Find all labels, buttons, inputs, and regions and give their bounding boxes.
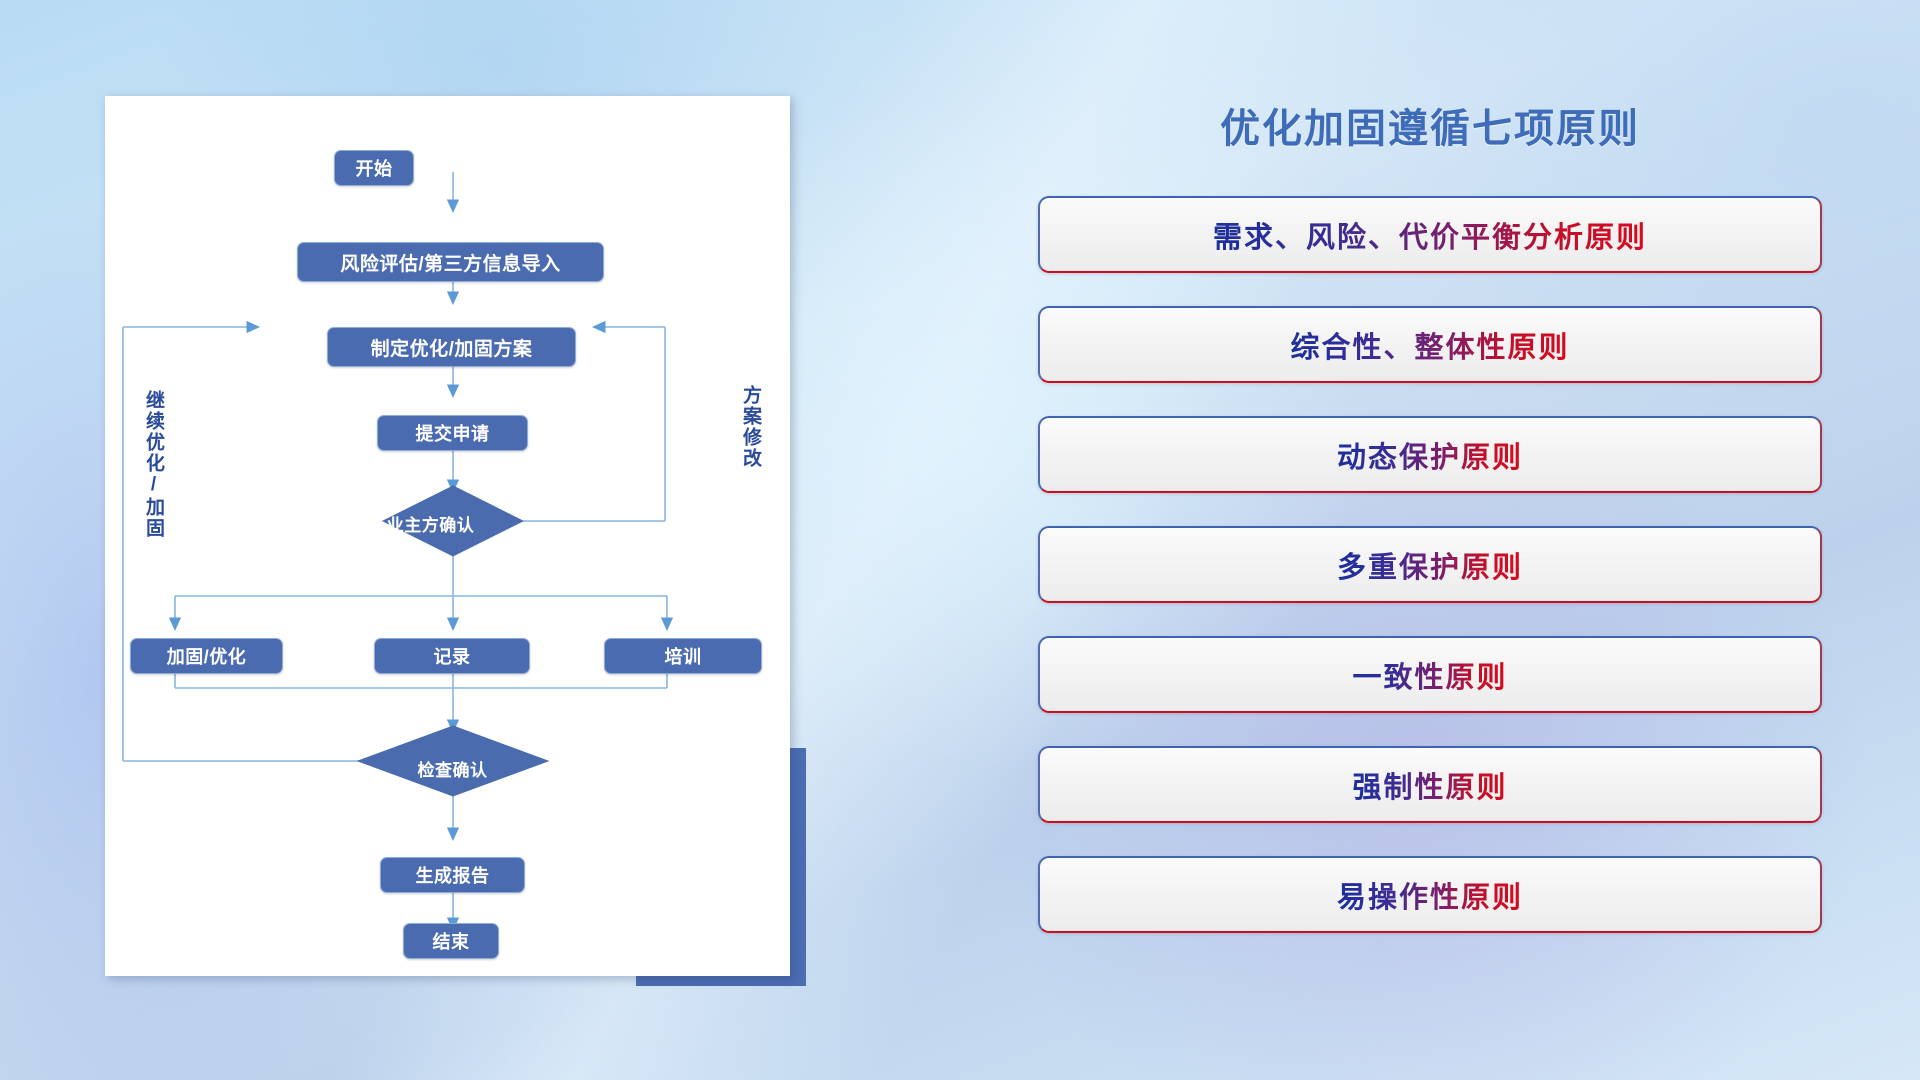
principle-card-6[interactable]: 强制性原则 (1038, 746, 1822, 823)
flow-edge-label-plan-revision: 方案修改 (737, 385, 764, 469)
flow-node-start[interactable]: 开始 (334, 150, 414, 186)
flow-node-record[interactable]: 记录 (374, 638, 530, 674)
principle-card-4[interactable]: 多重保护原则 (1038, 526, 1822, 603)
principle-card-3[interactable]: 动态保护原则 (1038, 416, 1822, 493)
flow-node-check-confirm-label: 检查确认 (418, 756, 488, 781)
flow-node-training[interactable]: 培训 (604, 638, 762, 674)
flow-node-submit-application[interactable]: 提交申请 (377, 415, 528, 451)
flow-node-end[interactable]: 结束 (403, 923, 499, 959)
principles-panel: 优化加固遵循七项原则 需求、风险、代价平衡分析原则 综合性、整体性原则 动态保护… (1000, 96, 1860, 1026)
principles-panel-title: 优化加固遵循七项原则 (1000, 96, 1860, 154)
principle-card-1-label: 需求、风险、代价平衡分析原则 (1213, 214, 1647, 256)
principle-card-2[interactable]: 综合性、整体性原则 (1038, 306, 1822, 383)
principle-card-2-label: 综合性、整体性原则 (1290, 324, 1569, 366)
principle-card-7[interactable]: 易操作性原则 (1038, 856, 1822, 933)
flow-node-risk-assessment[interactable]: 风险评估/第三方信息导入 (297, 242, 604, 282)
flow-node-reinforce-optimize[interactable]: 加固/优化 (130, 638, 283, 674)
principle-card-4-label: 多重保护原则 (1337, 544, 1523, 586)
flow-edge-label-continue-optimize: 继续优化/加固 (140, 390, 167, 539)
principle-card-1[interactable]: 需求、风险、代价平衡分析原则 (1038, 196, 1822, 273)
flow-node-check-confirm[interactable]: 检查确认 (367, 750, 538, 786)
principle-card-6-label: 强制性原则 (1352, 764, 1507, 806)
flow-node-owner-confirm-label: 业主方确认 (387, 511, 475, 536)
principle-card-7-label: 易操作性原则 (1337, 874, 1523, 916)
principle-card-3-label: 动态保护原则 (1337, 434, 1523, 476)
principle-card-5[interactable]: 一致性原则 (1038, 636, 1822, 713)
flowchart-panel: 开始 风险评估/第三方信息导入 制定优化/加固方案 提交申请 业主方确认 加固/… (0, 0, 860, 1080)
principle-card-5-label: 一致性原则 (1352, 654, 1507, 696)
flow-node-owner-confirm[interactable]: 业主方确认 (345, 505, 516, 541)
flow-node-make-plan[interactable]: 制定优化/加固方案 (327, 327, 576, 367)
flow-node-generate-report[interactable]: 生成报告 (380, 857, 525, 893)
